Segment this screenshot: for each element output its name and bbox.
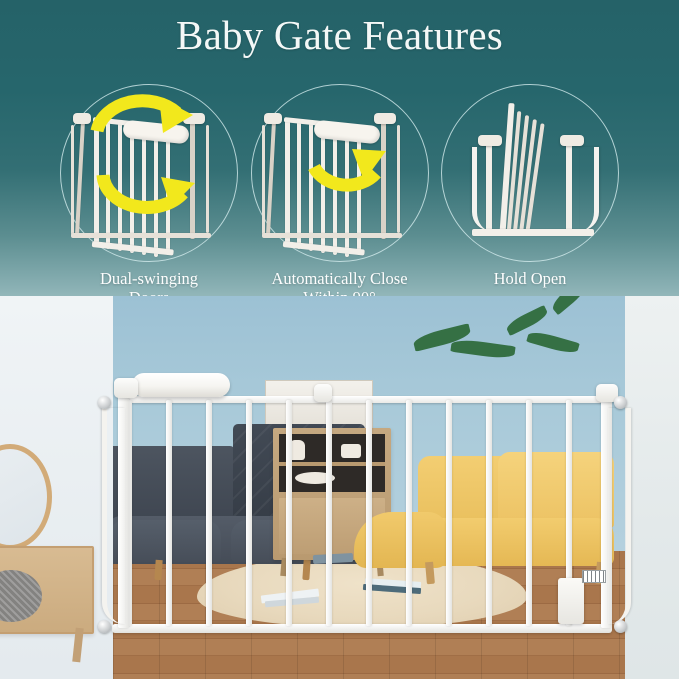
gate-hinge-knob <box>314 384 332 402</box>
walk-through-baby-gate <box>96 382 630 662</box>
feature-circle <box>60 84 238 262</box>
gate-vertical-bar <box>406 400 412 626</box>
pressure-mount-screw <box>614 620 627 633</box>
feature-circle <box>251 84 429 262</box>
gate-vertical-bar <box>446 400 452 626</box>
right-wall <box>625 296 679 679</box>
round-mirror <box>0 444 52 550</box>
baby-gate-auto-close-icon <box>252 85 428 261</box>
gate-left-pressure-post <box>102 408 125 624</box>
gate-vertical-bar <box>526 400 532 626</box>
gate-handle-knob[interactable] <box>114 378 138 398</box>
gate-vertical-bar <box>286 400 292 626</box>
auto-close-arrow-icon <box>306 137 392 193</box>
gate-vertical-bar <box>206 400 212 626</box>
gate-vertical-bar <box>486 400 492 626</box>
feature-caption: Hold Open <box>439 269 621 288</box>
feature-circle <box>441 84 619 262</box>
gate-bottom-rail <box>112 624 612 633</box>
feature-caption-line1: Dual-swinging <box>58 269 240 288</box>
baby-gate-hold-open-icon <box>442 85 618 261</box>
swing-arrow-bottom-icon <box>91 163 197 215</box>
wooden-sideboard <box>0 546 94 634</box>
gate-vertical-bar <box>326 400 332 626</box>
feature-item-hold-open: Hold Open <box>439 84 621 304</box>
gate-vertical-bar <box>246 400 252 626</box>
latch-indicator-grid <box>582 570 606 583</box>
swing-arrow-top-icon <box>89 91 199 139</box>
feature-item-auto-close-90: Automatically Close Within 90° <box>249 84 431 304</box>
pressure-mount-screw <box>98 396 111 409</box>
pressure-mount-screw <box>98 620 111 633</box>
rattan-circle-panel <box>0 570 42 622</box>
gate-vertical-bar <box>166 400 172 626</box>
gate-right-pressure-post <box>608 408 631 624</box>
feature-item-dual-swinging-doors: Dual-swinging Doors <box>58 84 240 304</box>
gate-vertical-bar <box>366 400 372 626</box>
feature-caption-line1: Hold Open <box>439 269 621 288</box>
latch-indicator <box>558 578 584 624</box>
baby-gate-dual-swing-icon <box>61 85 237 261</box>
gate-swing-handle[interactable] <box>132 373 230 397</box>
feature-list: Dual-swinging Doors <box>0 84 679 304</box>
feature-caption-line1: Automatically Close <box>249 269 431 288</box>
product-feature-banner: Baby Gate Features <box>0 0 679 679</box>
page-title: Baby Gate Features <box>0 10 679 60</box>
pressure-mount-screw <box>614 396 627 409</box>
